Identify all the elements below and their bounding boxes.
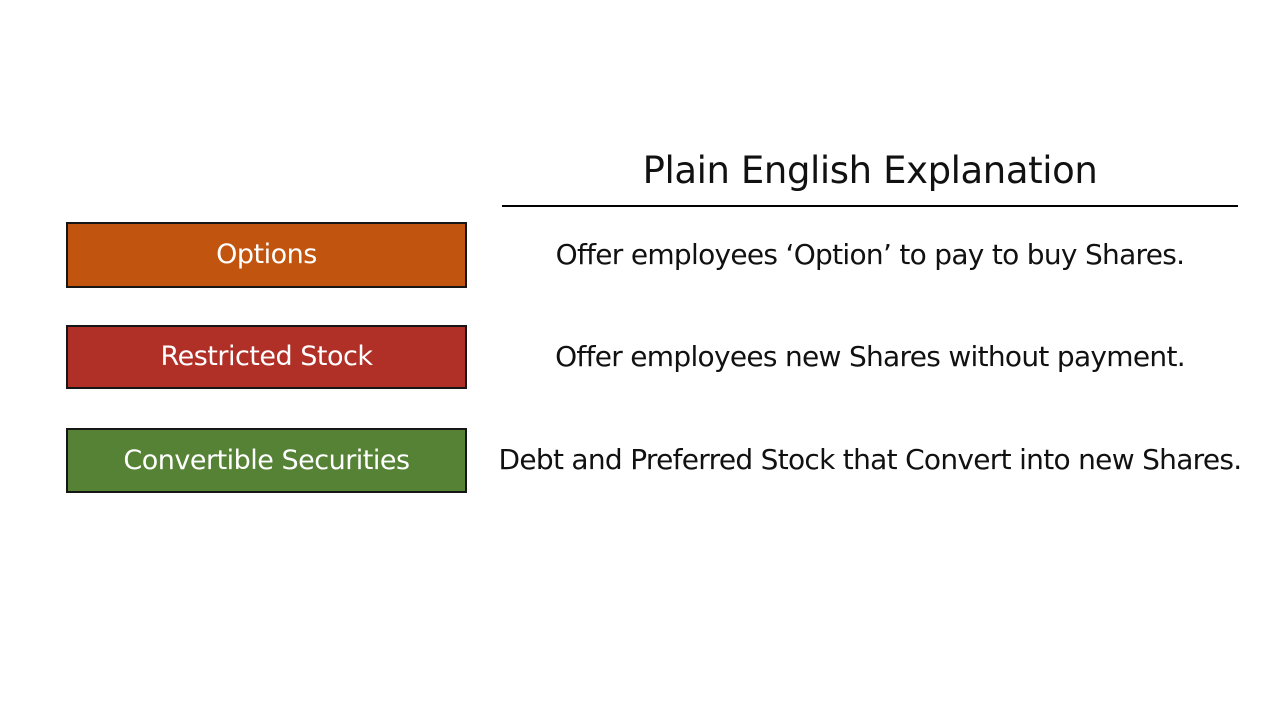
explanation-text-options: Offer employees ‘Option’ to pay to buy S… bbox=[495, 237, 1245, 273]
category-box-options[interactable]: Options bbox=[66, 222, 467, 288]
category-box-label: Convertible Securities bbox=[123, 445, 409, 477]
slide-canvas: Plain English Explanation Options Restri… bbox=[0, 0, 1280, 720]
page-title: Plain English Explanation bbox=[502, 148, 1238, 194]
category-box-label: Restricted Stock bbox=[161, 341, 373, 373]
explanation-text-convertible-securities: Debt and Preferred Stock that Convert in… bbox=[495, 442, 1245, 478]
category-box-label: Options bbox=[216, 239, 317, 271]
category-box-restricted-stock[interactable]: Restricted Stock bbox=[66, 325, 467, 389]
category-box-convertible-securities[interactable]: Convertible Securities bbox=[66, 428, 467, 493]
explanation-text-restricted-stock: Offer employees new Shares without payme… bbox=[495, 339, 1245, 375]
header-divider bbox=[502, 205, 1238, 207]
